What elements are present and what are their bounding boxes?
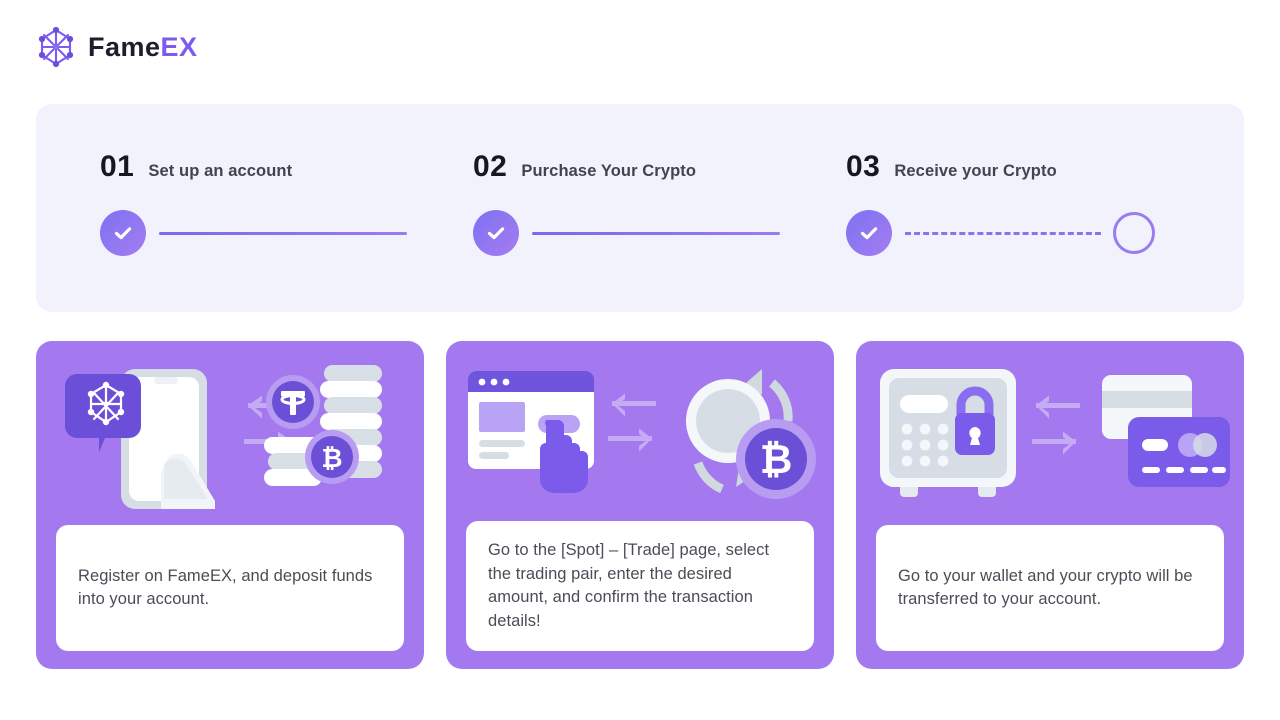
card-3-description: Go to your wallet and your crypto will b… xyxy=(898,565,1202,612)
card-1-description: Register on FameEX, and deposit funds in… xyxy=(78,565,382,612)
fameex-network-logo-icon xyxy=(36,26,76,68)
card-2-text-box: Go to the [Spot] – [Trade] page, select … xyxy=(466,521,814,651)
step-01-number: 01 xyxy=(100,152,134,182)
steps-panel: 01 Set up an account 02 Purchase Your Cr… xyxy=(36,104,1244,312)
browser-click-exchange-illustration: ₿ xyxy=(446,341,834,513)
step-03-connector xyxy=(905,232,1101,235)
step-02-connector xyxy=(532,232,780,235)
step-01-track xyxy=(100,210,409,256)
step-03-head: 03 Receive your Crypto xyxy=(846,152,1155,186)
card-step-3[interactable]: Go to your wallet and your crypto will b… xyxy=(856,341,1244,669)
step-01[interactable]: 01 Set up an account xyxy=(36,104,409,312)
step-02-title: Purchase Your Crypto xyxy=(521,163,696,180)
svg-text:₿: ₿ xyxy=(760,438,793,482)
step-02-number: 02 xyxy=(473,152,507,182)
step-03[interactable]: 03 Receive your Crypto xyxy=(782,104,1155,312)
brand-name-primary: Fame xyxy=(88,32,161,62)
step-01-title: Set up an account xyxy=(148,163,292,180)
steps-row: 01 Set up an account 02 Purchase Your Cr… xyxy=(36,104,1244,312)
check-icon xyxy=(846,210,892,256)
step-end-empty-circle-icon xyxy=(1113,212,1155,254)
step-02-track xyxy=(473,210,782,256)
check-icon xyxy=(100,210,146,256)
step-02[interactable]: 02 Purchase Your Crypto xyxy=(409,104,782,312)
step-03-track xyxy=(846,210,1155,256)
card-3-text-box: Go to your wallet and your crypto will b… xyxy=(876,525,1224,651)
step-01-head: 01 Set up an account xyxy=(100,152,409,186)
brand-logo[interactable]: FameEX xyxy=(36,26,198,68)
step-03-title: Receive your Crypto xyxy=(894,163,1056,180)
safe-credit-card-illustration xyxy=(856,341,1244,513)
cards-row: ₿ Register on FameEX, and deposit funds … xyxy=(36,341,1244,669)
card-step-2[interactable]: ₿ Go to the [Spot] – [Trade] page, selec… xyxy=(446,341,834,669)
brand-name-accent: EX xyxy=(161,32,198,62)
svg-text:₿: ₿ xyxy=(321,443,342,473)
step-02-head: 02 Purchase Your Crypto xyxy=(473,152,782,186)
brand-wordmark: FameEX xyxy=(88,34,198,61)
card-step-1[interactable]: ₿ Register on FameEX, and deposit funds … xyxy=(36,341,424,669)
card-1-text-box: Register on FameEX, and deposit funds in… xyxy=(56,525,404,651)
phone-wallet-coins-illustration: ₿ xyxy=(36,341,424,513)
check-icon xyxy=(473,210,519,256)
page-root: FameEX 01 Set up an account xyxy=(0,0,1280,720)
card-2-description: Go to the [Spot] – [Trade] page, select … xyxy=(488,539,792,633)
step-01-connector xyxy=(159,232,407,235)
step-03-number: 03 xyxy=(846,152,880,182)
